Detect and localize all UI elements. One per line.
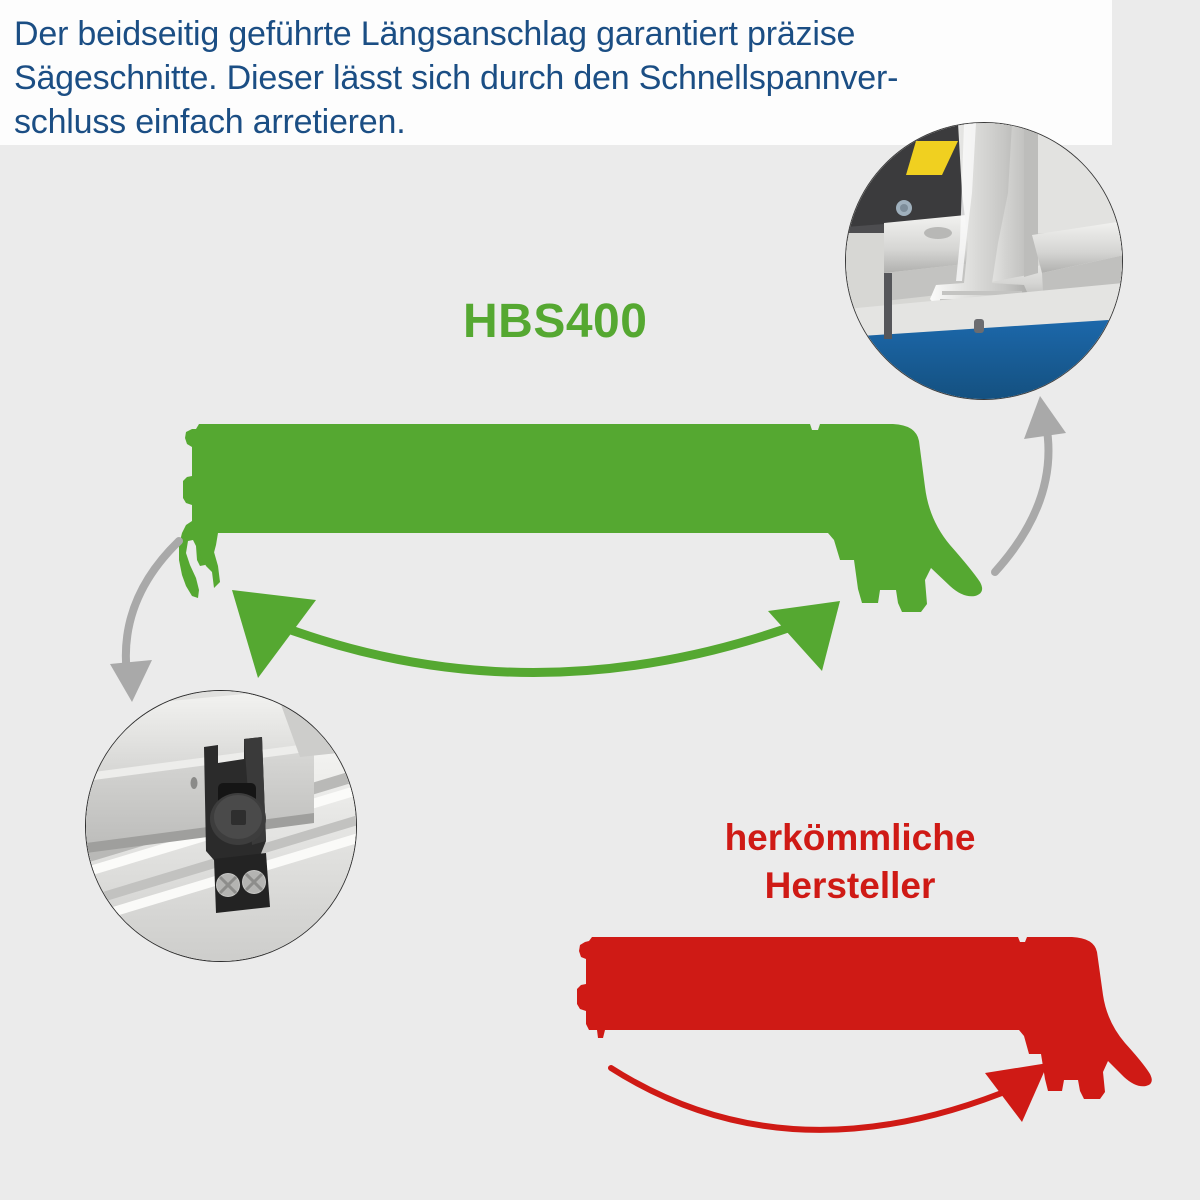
photo-quick-release-clamp	[845, 122, 1123, 400]
label-hbs400: HBS400	[463, 294, 647, 349]
double-headed-guide-arrow	[232, 590, 840, 678]
image-canvas: Der beidseitig geführte Längsanschlag ga…	[0, 0, 1200, 1200]
clamp-photo-illustration	[846, 123, 1123, 400]
housing-screw-slot	[900, 204, 908, 212]
rip-fence-silhouette-conventional	[577, 937, 1152, 1099]
fence-body-shadow	[1024, 123, 1038, 277]
callout-arrow-lower-left	[110, 541, 179, 702]
bracket-photo-illustration	[86, 691, 357, 962]
knob-under-table	[974, 319, 984, 333]
caption-text: Der beidseitig geführte Längsanschlag ga…	[14, 12, 1074, 144]
rail-pin-hole	[191, 777, 198, 789]
rip-fence-silhouette-hbs400	[179, 424, 982, 612]
clamp-block-recess	[924, 227, 952, 239]
label-conventional: herkömmliche Hersteller	[690, 814, 1010, 910]
photo-fence-guide-bracket	[85, 690, 357, 962]
caption-panel: Der beidseitig geführte Längsanschlag ga…	[0, 0, 1112, 145]
single-headed-guide-arrow	[611, 1063, 1048, 1130]
knob-hex-socket	[231, 810, 246, 825]
guide-post	[884, 273, 892, 339]
callout-arrow-upper-right	[995, 396, 1066, 572]
